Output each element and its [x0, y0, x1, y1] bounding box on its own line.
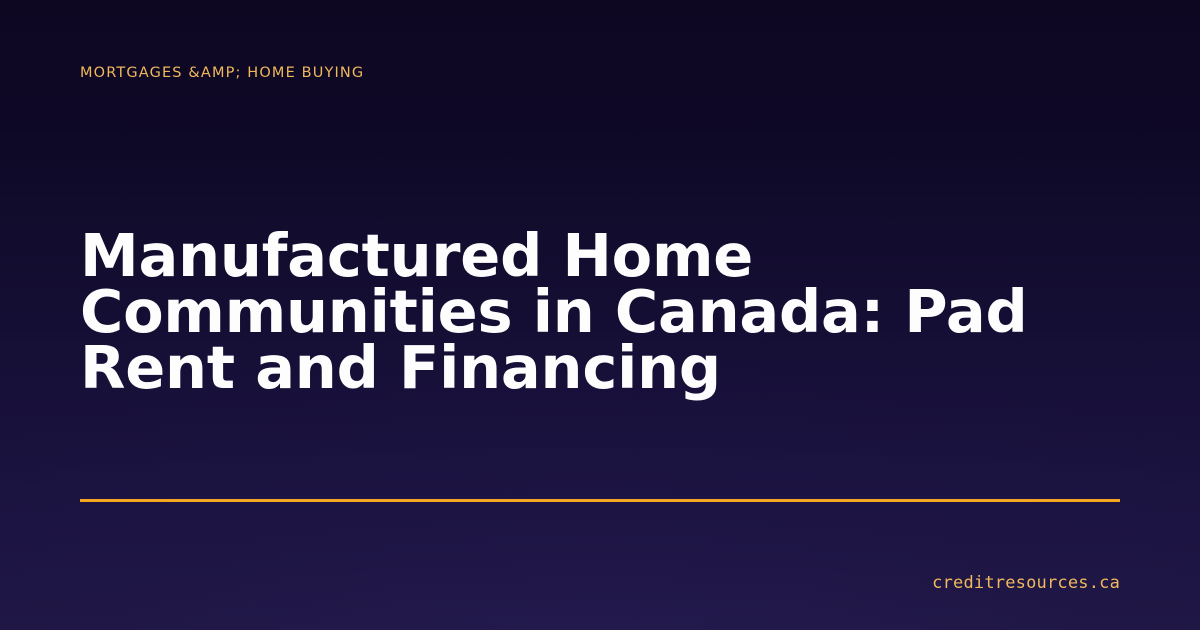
social-share-card: MORTGAGES &AMP; HOME BUYING Manufactured… — [0, 0, 1200, 630]
site-domain: creditresources.ca — [932, 572, 1120, 594]
divider-rule — [80, 499, 1120, 502]
category-kicker: MORTGAGES &AMP; HOME BUYING — [80, 63, 364, 83]
card-content: MORTGAGES &AMP; HOME BUYING Manufactured… — [0, 0, 1200, 630]
page-title: Manufactured Home Communities in Canada:… — [80, 228, 1140, 396]
